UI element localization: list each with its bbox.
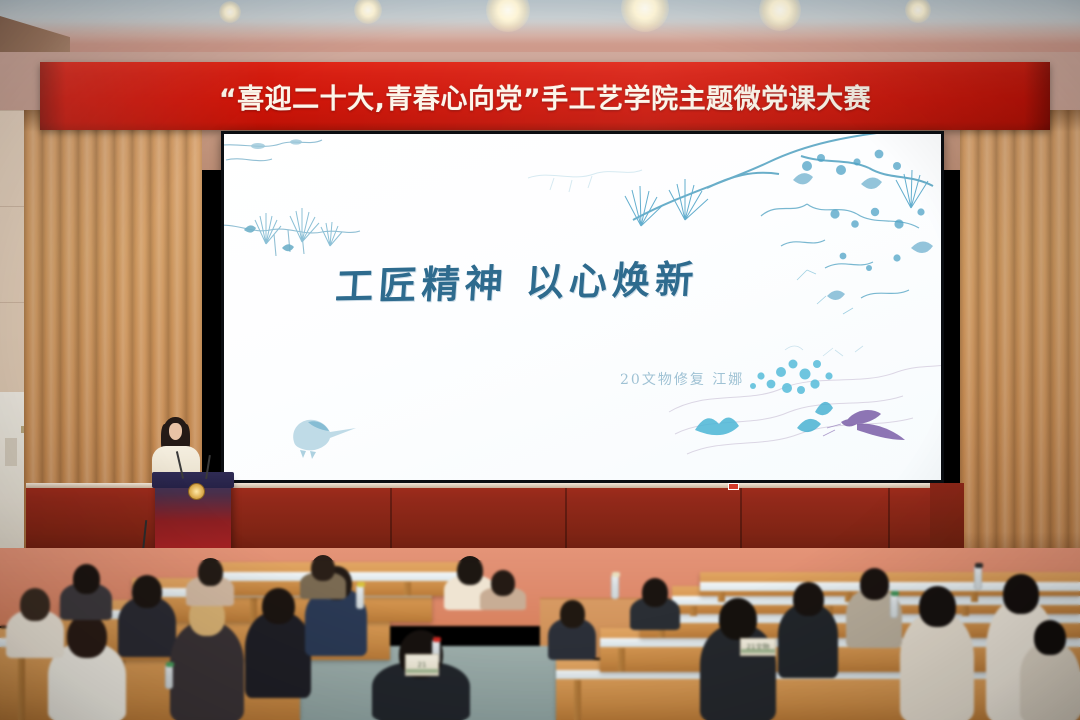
projection-screen-frame: 工匠精神 以心焕新 20文物修复 江娜 — [221, 131, 944, 483]
placard-band — [741, 649, 775, 653]
audience-head — [719, 598, 757, 640]
audience-body — [900, 613, 974, 720]
audience-member — [1020, 620, 1080, 720]
stage-curtain-right — [960, 110, 1080, 580]
placard-text: 21 — [418, 661, 427, 669]
audience-member — [170, 596, 244, 720]
audience-head — [860, 568, 889, 600]
water-bottle — [356, 585, 364, 609]
sprig-accent-icon — [524, 152, 644, 212]
ceiling-light — [905, 0, 931, 23]
bird-left-icon — [272, 406, 372, 462]
podium-emblem-icon — [188, 483, 205, 500]
stage-front-right-end — [930, 483, 964, 555]
cabinet-label — [5, 438, 17, 466]
audience-member — [630, 578, 680, 630]
audience-body — [245, 612, 311, 698]
audience-head — [793, 582, 824, 616]
seat-placard: 21文物 — [740, 638, 776, 656]
bench-leg — [690, 606, 697, 616]
flower-bird-bottom-right-icon — [665, 342, 941, 480]
audience-head — [67, 614, 107, 658]
water-bottle — [611, 575, 619, 599]
audience-member — [700, 598, 776, 720]
projection-screen: 工匠精神 以心焕新 20文物修复 江娜 — [224, 134, 941, 480]
water-bottle — [165, 665, 173, 689]
audience-member — [6, 588, 64, 658]
placard-band — [406, 669, 438, 673]
bench-leg — [618, 648, 625, 672]
audience-head — [262, 588, 295, 624]
banner-title-text: “喜迎二十大,青春心向党”手工艺学院主题微党课大赛 — [40, 62, 1050, 130]
seat-placard: 21 — [405, 654, 439, 676]
audience-member — [778, 582, 838, 678]
audience-body — [170, 622, 244, 720]
audience-head — [1034, 620, 1066, 655]
stage-panel-seam — [390, 488, 392, 555]
bottle-cap — [433, 637, 441, 642]
bottle-cap — [891, 591, 899, 596]
stage-panel-seam — [740, 488, 742, 555]
audience-head — [20, 588, 50, 621]
audience-member — [118, 575, 176, 657]
water-bottle — [974, 566, 982, 590]
bench-leg — [18, 648, 25, 720]
bottle-cap — [357, 582, 365, 587]
audience-member — [245, 588, 311, 698]
slide-title: 工匠精神 以心焕新 — [334, 248, 700, 311]
audience-head — [919, 586, 956, 627]
water-bottle — [890, 594, 898, 618]
event-banner: “喜迎二十大,青春心向党”手工艺学院主题微党课大赛 — [40, 62, 1050, 130]
audience-member — [900, 586, 974, 720]
audience-head — [73, 564, 100, 594]
stage-panel-seam — [888, 488, 890, 555]
audience-member — [548, 600, 596, 660]
stage-sticker — [728, 483, 739, 490]
audience-member — [60, 564, 112, 620]
audience-head — [198, 558, 223, 586]
speaker-face — [169, 423, 182, 440]
bench-leg — [404, 582, 411, 596]
auditorium-photo: “喜迎二十大,青春心向党”手工艺学院主题微党课大赛 — [0, 0, 1080, 720]
audience-member — [186, 558, 234, 606]
bottle-cap — [975, 563, 983, 568]
audience-member — [300, 555, 346, 599]
bottle-cap — [612, 572, 620, 577]
stage-panel-seam — [565, 488, 567, 555]
audience-head — [560, 600, 585, 628]
audience-member — [480, 570, 526, 610]
audience-head — [642, 578, 668, 607]
plum-branch-top-right-icon — [611, 134, 941, 358]
audience-head — [1003, 574, 1039, 614]
bottle-cap — [166, 662, 174, 667]
bench-leg — [574, 680, 581, 720]
audience-head — [311, 555, 335, 581]
audience-head — [132, 575, 162, 608]
audience-head — [491, 570, 515, 596]
slide-subtitle: 20文物修复 江娜 — [620, 369, 744, 389]
